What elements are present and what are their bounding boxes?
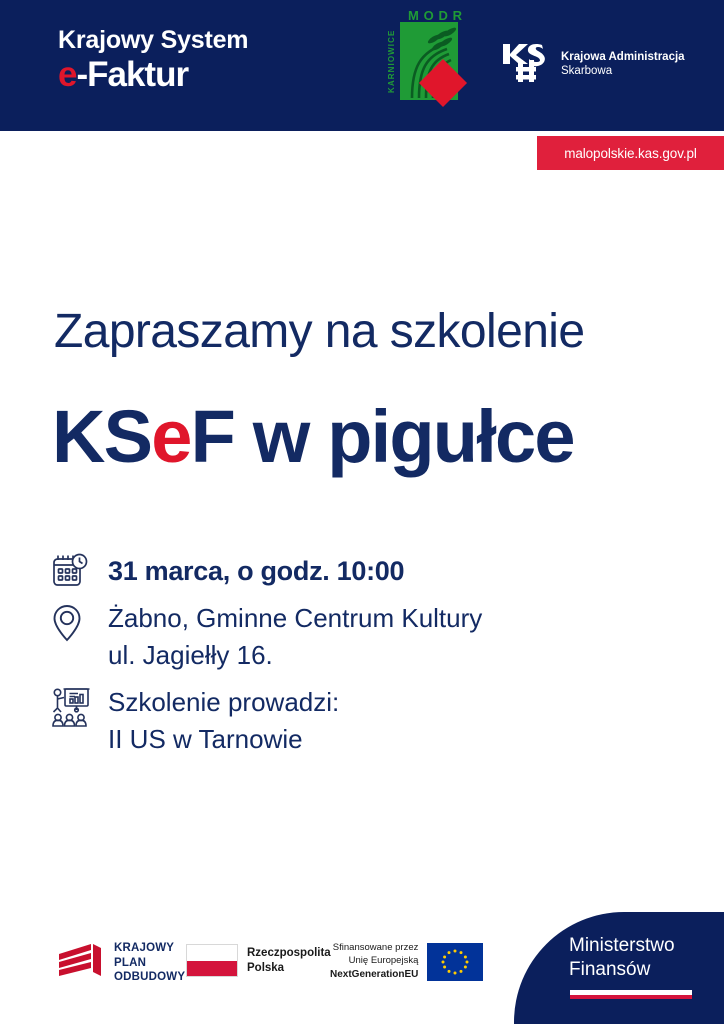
kas-logo-line2: Skarbowa [561,64,685,78]
kpo-line1: KRAJOWY [114,941,185,956]
rzeczpospolita-polska-logo: Rzeczpospolita Polska [186,944,331,977]
kas-mark-icon [502,42,552,86]
kpo-logo: KRAJOWY PLAN ODBUDOWY [57,941,185,985]
event-title: KSeF w pigułce [52,396,574,477]
modr-top-letters: M O D R [408,9,462,22]
eu-line3: NextGenerationEU [330,968,418,982]
ksef-logo-line2: e-Faktur [58,57,248,92]
eu-funding-logo: Sfinansowane przez Unię Europejską NextG… [330,942,483,981]
eu-funding-text: Sfinansowane przez Unię Europejską NextG… [330,942,418,981]
rzeczpospolita-line1: Rzeczpospolita [247,946,331,961]
calendar-clock-icon [50,550,90,590]
detail-icon-wrap-location [50,600,108,646]
kpo-mark-icon [57,942,105,984]
header-bar: Krajowy System e-Faktur M O D R KARNIOWI… [0,0,724,131]
ministry-of-finance-logo: Ministerstwo Finansów [514,912,724,1024]
modr-letter-m: M [408,9,419,22]
eu-line2: Unię Europejską [330,955,418,968]
ministry-flag-icon [570,990,692,999]
ministry-line1: Ministerstwo [569,934,675,958]
detail-text-location: Żabno, Gminne Centrum Kultury ul. Jagieł… [108,600,482,674]
detail-text-date: 31 marca, o godz. 10:00 [108,548,404,590]
rzeczpospolita-line2: Polska [247,961,331,976]
kas-logo-line1: Krajowa Administracja [561,50,685,64]
event-title-part1: KS [52,395,151,478]
location-pin-icon [50,602,90,646]
detail-text-presenter: Szkolenie prowadzi: II US w Tarnowie [108,684,339,758]
poland-flag-white-stripe [187,945,237,961]
modr-letter-d: D [438,9,447,22]
ksef-logo-rest: -Faktur [76,55,188,94]
kas-logo-text: Krajowa Administracja Skarbowa [561,50,685,79]
kpo-line3: ODBUDOWY [114,970,185,985]
eu-flag-icon [427,943,483,981]
modr-logo: M O D R KARNIOWICE [378,8,474,116]
invitation-headline: Zapraszamy na szkolenie [54,304,584,359]
event-date-time: 31 marca, o godz. 10:00 [108,548,404,590]
detail-row-presenter: Szkolenie prowadzi: II US w Tarnowie [50,684,690,758]
presenter-label: Szkolenie prowadzi: [108,684,339,721]
presentation-audience-icon [50,686,96,732]
ksef-logo: Krajowy System e-Faktur [58,28,248,92]
event-title-part2: F w pigułce [191,395,574,478]
eu-line1: Sfinansowane przez [330,942,418,955]
detail-row-date: 31 marca, o godz. 10:00 [50,548,690,590]
detail-icon-wrap-date [50,548,108,590]
event-venue: Żabno, Gminne Centrum Kultury [108,600,482,637]
event-title-accent: e [151,395,190,478]
poland-flag-icon [186,944,238,977]
modr-side-text: KARNIOWICE [387,22,396,100]
detail-icon-wrap-presenter [50,684,108,732]
poland-flag-red-stripe [187,961,237,977]
modr-letter-o: O [424,9,434,22]
presenter-name: II US w Tarnowie [108,721,339,758]
event-address: ul. Jagiełły 16. [108,637,482,674]
ksef-logo-accent-letter: e [58,55,76,94]
ksef-logo-line1: Krajowy System [58,28,248,53]
ministry-line2: Finansów [569,958,675,982]
eu-stars-icon [427,943,483,981]
website-url-text: malopolskie.kas.gov.pl [564,146,697,161]
modr-letter-r: R [453,9,462,22]
ministry-flag-red-stripe [570,995,692,1000]
rzeczpospolita-text: Rzeczpospolita Polska [247,946,331,976]
website-url-badge[interactable]: malopolskie.kas.gov.pl [537,136,724,170]
poster-root: Krajowy System e-Faktur M O D R KARNIOWI… [0,0,724,1024]
detail-row-location: Żabno, Gminne Centrum Kultury ul. Jagieł… [50,600,690,674]
kpo-logo-text: KRAJOWY PLAN ODBUDOWY [114,941,185,985]
kas-logo: Krajowa Administracja Skarbowa [502,42,685,86]
kpo-line2: PLAN [114,956,185,971]
ministry-text: Ministerstwo Finansów [569,934,675,981]
event-details: 31 marca, o godz. 10:00 Żabno, Gminne Ce… [50,548,690,768]
